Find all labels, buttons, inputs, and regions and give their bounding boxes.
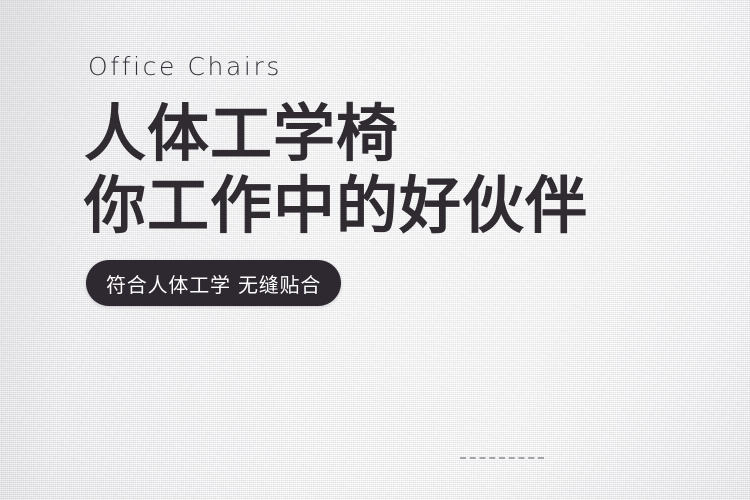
headline-line-2: 你工作中的好伙伴 [84, 170, 588, 242]
feature-badge-label: 符合人体工学 无缝贴合 [106, 269, 321, 298]
headline-block: 人体工学椅 你工作中的好伙伴 [84, 98, 588, 242]
headline-line-1: 人体工学椅 [84, 98, 588, 170]
banner-content: Office Chairs 人体工学椅 你工作中的好伙伴 符合人体工学 无缝贴合 [0, 0, 750, 500]
promo-banner: Office Chairs 人体工学椅 你工作中的好伙伴 符合人体工学 无缝贴合 [0, 0, 750, 500]
feature-badge: 符合人体工学 无缝贴合 [86, 260, 341, 306]
dashed-rule-decoration [460, 457, 544, 459]
eyebrow-text: Office Chairs [88, 54, 282, 79]
